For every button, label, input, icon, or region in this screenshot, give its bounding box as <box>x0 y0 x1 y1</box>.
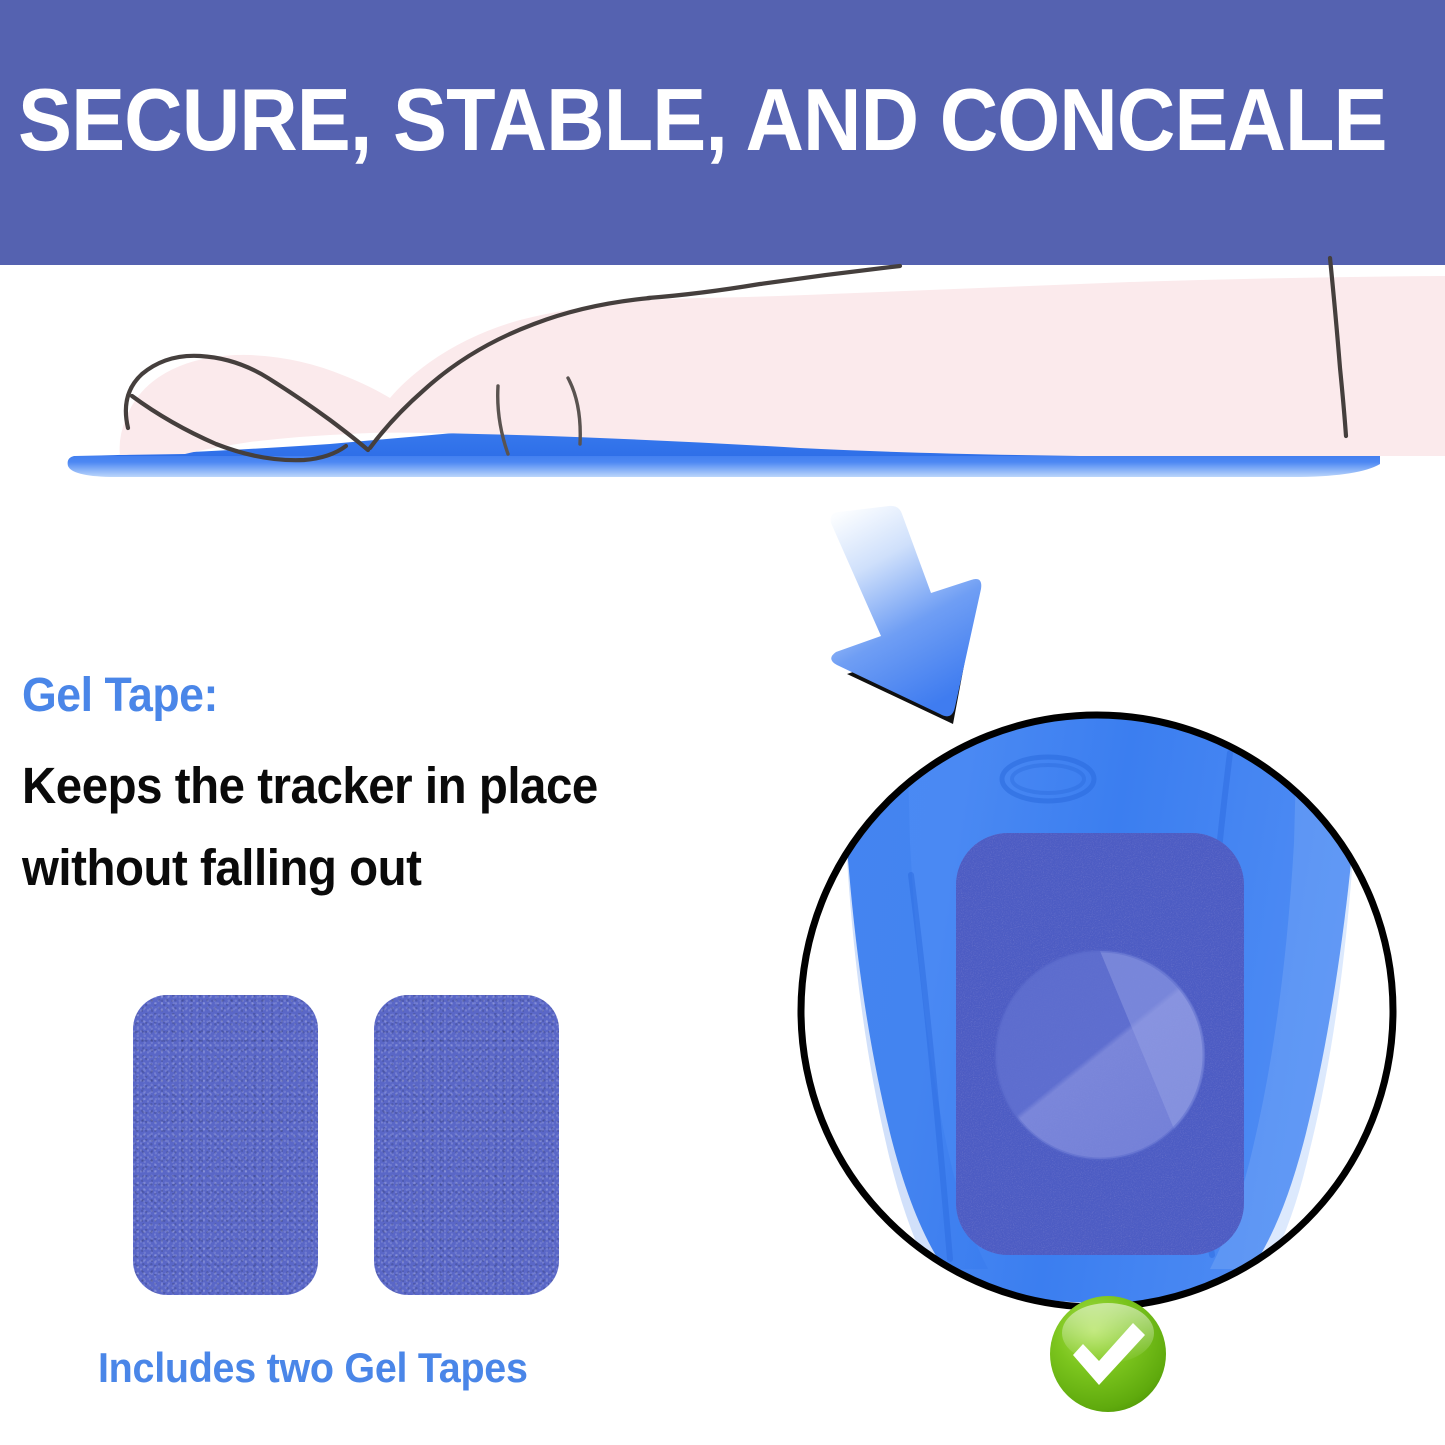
gel-pad-swatch <box>133 995 318 1295</box>
magnifier-callout <box>798 703 1396 1323</box>
header-banner: SECURE, STABLE, AND CONCEALE <box>0 0 1445 265</box>
foot-on-insole-illustration <box>0 258 1445 508</box>
magnifier-contents <box>798 693 1396 1323</box>
check-badge-svg <box>1047 1293 1169 1415</box>
gel-tape-description-line-1: Keeps the tracker in place <box>22 745 747 827</box>
gel-tape-description: Keeps the tracker in place without falli… <box>22 745 747 909</box>
product-infographic-page: SECURE, STABLE, AND CONCEALE <box>0 0 1445 1445</box>
foot-insole-svg <box>0 258 1445 508</box>
gel-tape-description-line-2: without falling out <box>22 827 747 909</box>
gel-pads-caption: Includes two Gel Tapes <box>98 1343 528 1393</box>
green-check-badge <box>1047 1293 1169 1415</box>
arrow-body <box>831 506 982 716</box>
foot-skin <box>120 276 1445 456</box>
gel-pad-swatch <box>374 995 559 1295</box>
magnifier-svg <box>798 703 1396 1323</box>
gel-pad-swatch-group <box>133 995 613 1295</box>
gel-tape-heading: Gel Tape: <box>22 668 218 724</box>
page-title: SECURE, STABLE, AND CONCEALE <box>18 74 1445 166</box>
